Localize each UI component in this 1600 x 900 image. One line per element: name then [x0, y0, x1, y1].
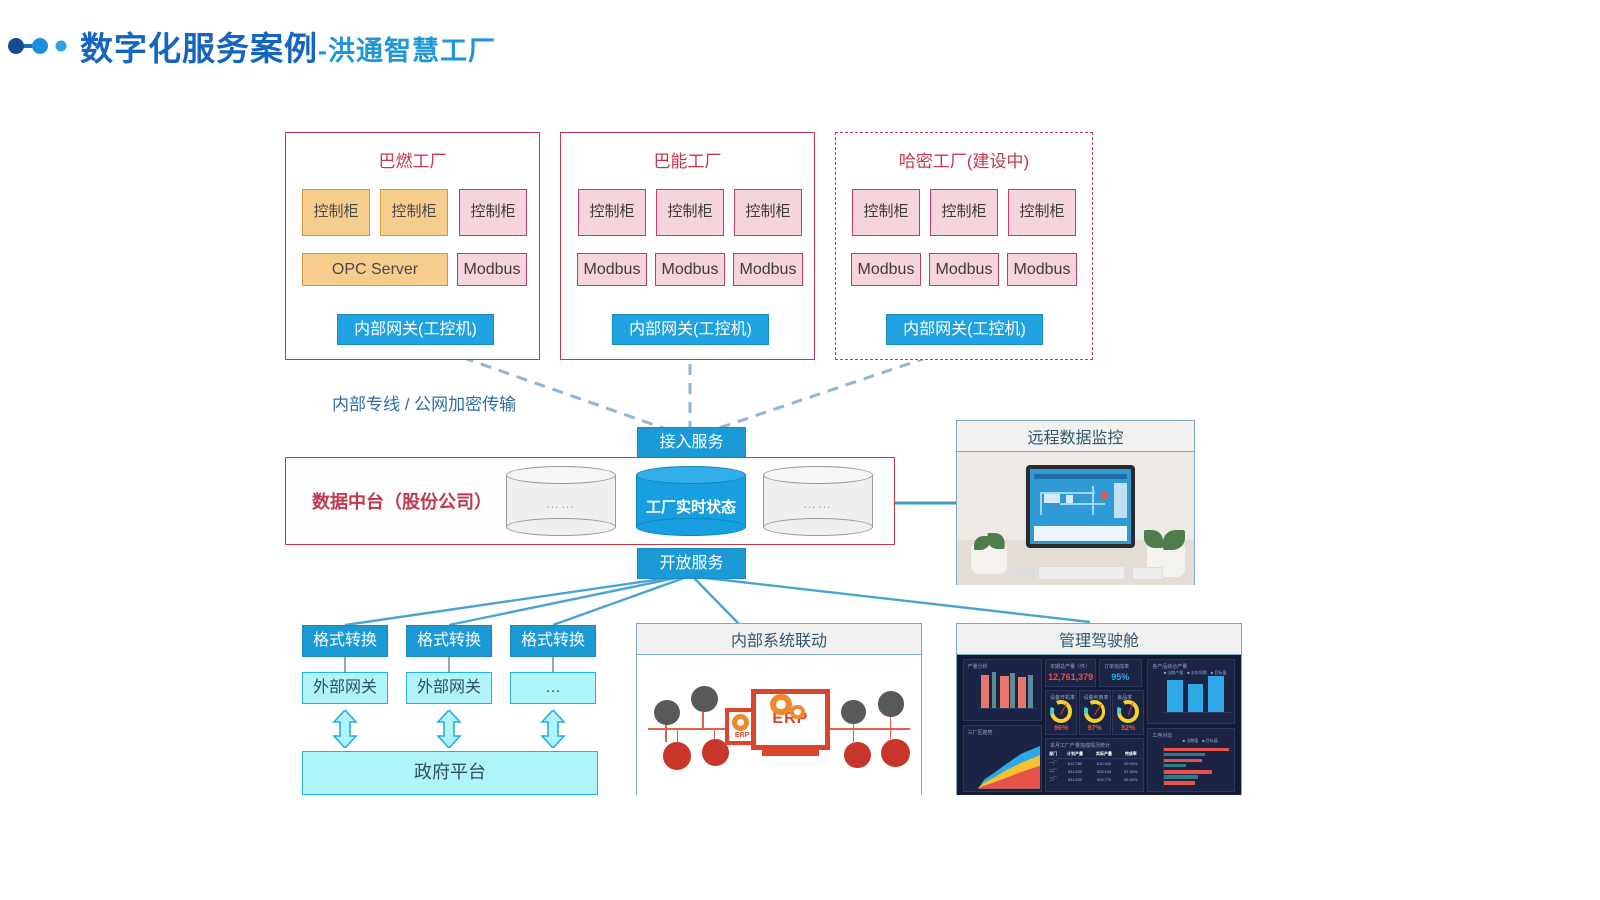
table-header: 实际产量: [1090, 750, 1119, 759]
internal-gateway-box: 内部网关(工控机): [612, 314, 769, 345]
internal-gateway-box: 内部网关(工控机): [337, 314, 494, 345]
open-service-box: 开放服务: [637, 548, 746, 579]
link-open-fmt3: [553, 578, 684, 625]
table-cell: 二厂: [1046, 767, 1060, 775]
remote-monitor-panel: 远程数据监控: [956, 420, 1195, 585]
table-header: 完成率: [1118, 750, 1143, 759]
vendor-feed-icon: [654, 700, 680, 725]
table-title: 本月工厂产量完成情况统计: [1050, 742, 1110, 749]
table-cell: 一厂: [1046, 759, 1060, 768]
table-cell: 531,620: [1061, 775, 1090, 783]
government-platform-box: 政府平台: [302, 751, 598, 795]
external-gateway-box: 外部网关: [406, 672, 492, 704]
data-store-label: 工厂实时状态: [636, 496, 746, 517]
table-header: 部门: [1046, 750, 1060, 759]
protocol-box-modbus: Modbus: [577, 253, 647, 286]
protocol-box-modbus: Modbus: [929, 253, 999, 286]
format-convert-box: 格式转换: [510, 625, 596, 657]
internal-system-title: 内部系统联动: [637, 624, 921, 655]
link-open-fmt2: [449, 578, 676, 625]
erp-monitor: ERP: [751, 689, 831, 751]
dashboard-title: 管理驾驶舱: [957, 624, 1241, 655]
asset-management-icon: [691, 686, 718, 713]
dashboard-image: 产量分析 三厂区趋势 本期总产量（件）: [957, 655, 1241, 795]
table-row: 一厂 612,780 612,442 99.94%: [1046, 759, 1143, 768]
cabinet-box: 控制柜: [852, 189, 920, 236]
format-convert-box: 格式转换: [406, 625, 492, 657]
cabinet-box: 控制柜: [930, 189, 998, 236]
protocol-box-modbus: Modbus: [733, 253, 803, 286]
gauge-card: 设备利用率 97%: [1079, 690, 1111, 735]
chart-trend-area: 三厂区趋势: [963, 725, 1043, 792]
bidirectional-arrow-icon: [540, 710, 566, 748]
legend: ■ 当期产量 ■ 去年同期 ■ 目标值: [1164, 670, 1227, 676]
kpi-total-output: 本期总产量（件） 12,761,379: [1045, 659, 1096, 687]
table-cell: 612,780: [1061, 759, 1090, 768]
gauge-card: 设备开机率 96%: [1045, 690, 1077, 735]
cabinet-box: 控制柜: [302, 189, 370, 236]
page-title-separator: -: [318, 36, 328, 66]
crm-icon: [878, 691, 904, 716]
legend: ■ 当期值 ■ 目标值: [1183, 738, 1218, 744]
protocol-box-modbus: Modbus: [1007, 253, 1077, 286]
legend-item: 目标值: [1206, 738, 1218, 743]
factory-title: 巴能工厂: [561, 147, 814, 172]
protocol-box-modbus: Modbus: [655, 253, 725, 286]
external-application-icon: [844, 742, 871, 769]
data-store-label: ……: [763, 496, 873, 511]
bidirectional-arrow-icon: [332, 710, 358, 748]
table-header: 计划产量: [1061, 750, 1090, 759]
gear-icon: [770, 694, 791, 715]
data-store-cylinder: ……: [763, 466, 873, 536]
reports-analytics-icon: [663, 742, 691, 770]
chart-title: 工序对比: [1152, 732, 1172, 739]
table-output-summary: 本月工厂产量完成情况统计 部门 计划产量 实际产量 完成率 一厂 612,780…: [1045, 738, 1144, 793]
protocol-box-modbus: Modbus: [851, 253, 921, 286]
table-cell: 531,620: [1061, 767, 1090, 775]
table-cell: 529,770: [1090, 775, 1119, 783]
table-cell: 99.94%: [1118, 759, 1143, 768]
link-open-internal: [694, 578, 740, 625]
internal-system-panel: 内部系统联动 ERP ERP: [636, 623, 922, 795]
table-row: 三厂 531,620 529,770 98.60%: [1046, 775, 1143, 783]
collaboration-icon: [881, 739, 909, 767]
page-title: 数字化服务案例-洪通智慧工厂: [80, 22, 496, 70]
internal-system-image: ERP ERP: [637, 655, 921, 795]
kpi-completion-rate: 订单完成率 95%: [1099, 659, 1142, 687]
table-row: 二厂 531,620 528,105 97.90%: [1046, 767, 1143, 775]
chat-icon: [841, 700, 865, 724]
table-cell: 98.60%: [1118, 775, 1143, 783]
bidirectional-arrow-icon: [436, 710, 462, 748]
protocol-box-opc-server: OPC Server: [302, 253, 448, 286]
gauge-value: 97%: [1080, 725, 1110, 732]
factory-title: 哈密工厂(建设中): [836, 147, 1092, 172]
kpi-label: 订单完成率: [1104, 663, 1129, 670]
legend-item: 去年同期: [1191, 670, 1207, 675]
format-convert-box: 格式转换: [302, 625, 388, 657]
data-store-cylinder: ……: [506, 466, 616, 536]
gear-icon: [732, 714, 749, 731]
gauge-value: 96%: [1046, 725, 1076, 732]
cabinet-box: 控制柜: [380, 189, 448, 236]
erp-tablet-label: ERP: [735, 732, 749, 741]
transfer-label: 内部专线 / 公网加密传输: [332, 390, 516, 415]
external-gateway-box: …: [510, 672, 596, 704]
cabinet-box: 控制柜: [1008, 189, 1076, 236]
cabinet-box: 控制柜: [734, 189, 802, 236]
chart-title: 三厂区趋势: [968, 729, 993, 736]
remote-monitor-title: 远程数据监控: [957, 421, 1194, 452]
cabinet-box: 控制柜: [459, 189, 527, 236]
chart-production-rate: 产量分析: [963, 659, 1043, 721]
legend-item: 目标值: [1214, 670, 1226, 675]
data-platform-label: 数据中台（股份公司）: [312, 488, 492, 514]
gear-icon: [790, 705, 804, 719]
molecule-node-icon: [8, 33, 70, 59]
kpi-value: 12,761,379: [1046, 672, 1095, 682]
link-open-fmt1: [345, 578, 668, 625]
cabinet-box: 控制柜: [578, 189, 646, 236]
chart-process-compare: 工序对比 ■ 当期值 ■ 目标值: [1147, 728, 1235, 792]
kpi-label: 本期总产量（件）: [1050, 663, 1090, 670]
chart-title: 产量分析: [968, 663, 988, 670]
table-cell: 612,442: [1090, 759, 1119, 768]
access-service-box: 接入服务: [637, 427, 746, 458]
kpi-value: 95%: [1100, 672, 1141, 682]
gauge-card: 良品率 92%: [1112, 690, 1144, 735]
factory-title: 巴燃工厂: [286, 147, 539, 172]
data-store-label: ……: [506, 496, 616, 511]
internal-gateway-box: 内部网关(工控机): [886, 314, 1043, 345]
gauge-value: 92%: [1113, 725, 1143, 732]
remote-monitor-image: [957, 452, 1194, 585]
legend-item: 当期产量: [1167, 670, 1183, 675]
page-title-sub: 洪通智慧工厂: [328, 36, 496, 66]
legend-item: 当期值: [1186, 738, 1198, 743]
dashboard-panel: 管理驾驶舱 产量分析 三厂区趋势: [956, 623, 1242, 795]
data-store-cylinder-realtime: 工厂实时状态: [636, 466, 746, 536]
page-header: 数字化服务案例-洪通智慧工厂: [0, 0, 1600, 95]
page-title-main: 数字化服务案例: [80, 30, 318, 67]
cabinet-box: 控制柜: [656, 189, 724, 236]
table-cell: 528,105: [1090, 767, 1119, 775]
table-cell: 三厂: [1046, 775, 1060, 783]
protocol-box-modbus: Modbus: [457, 253, 527, 286]
table-cell: 97.90%: [1118, 767, 1143, 775]
external-gateway-box: 外部网关: [302, 672, 388, 704]
chart-product-output: 各产品综合产量 ■ 当期产量 ■ 去年同期 ■ 目标值: [1147, 659, 1235, 723]
